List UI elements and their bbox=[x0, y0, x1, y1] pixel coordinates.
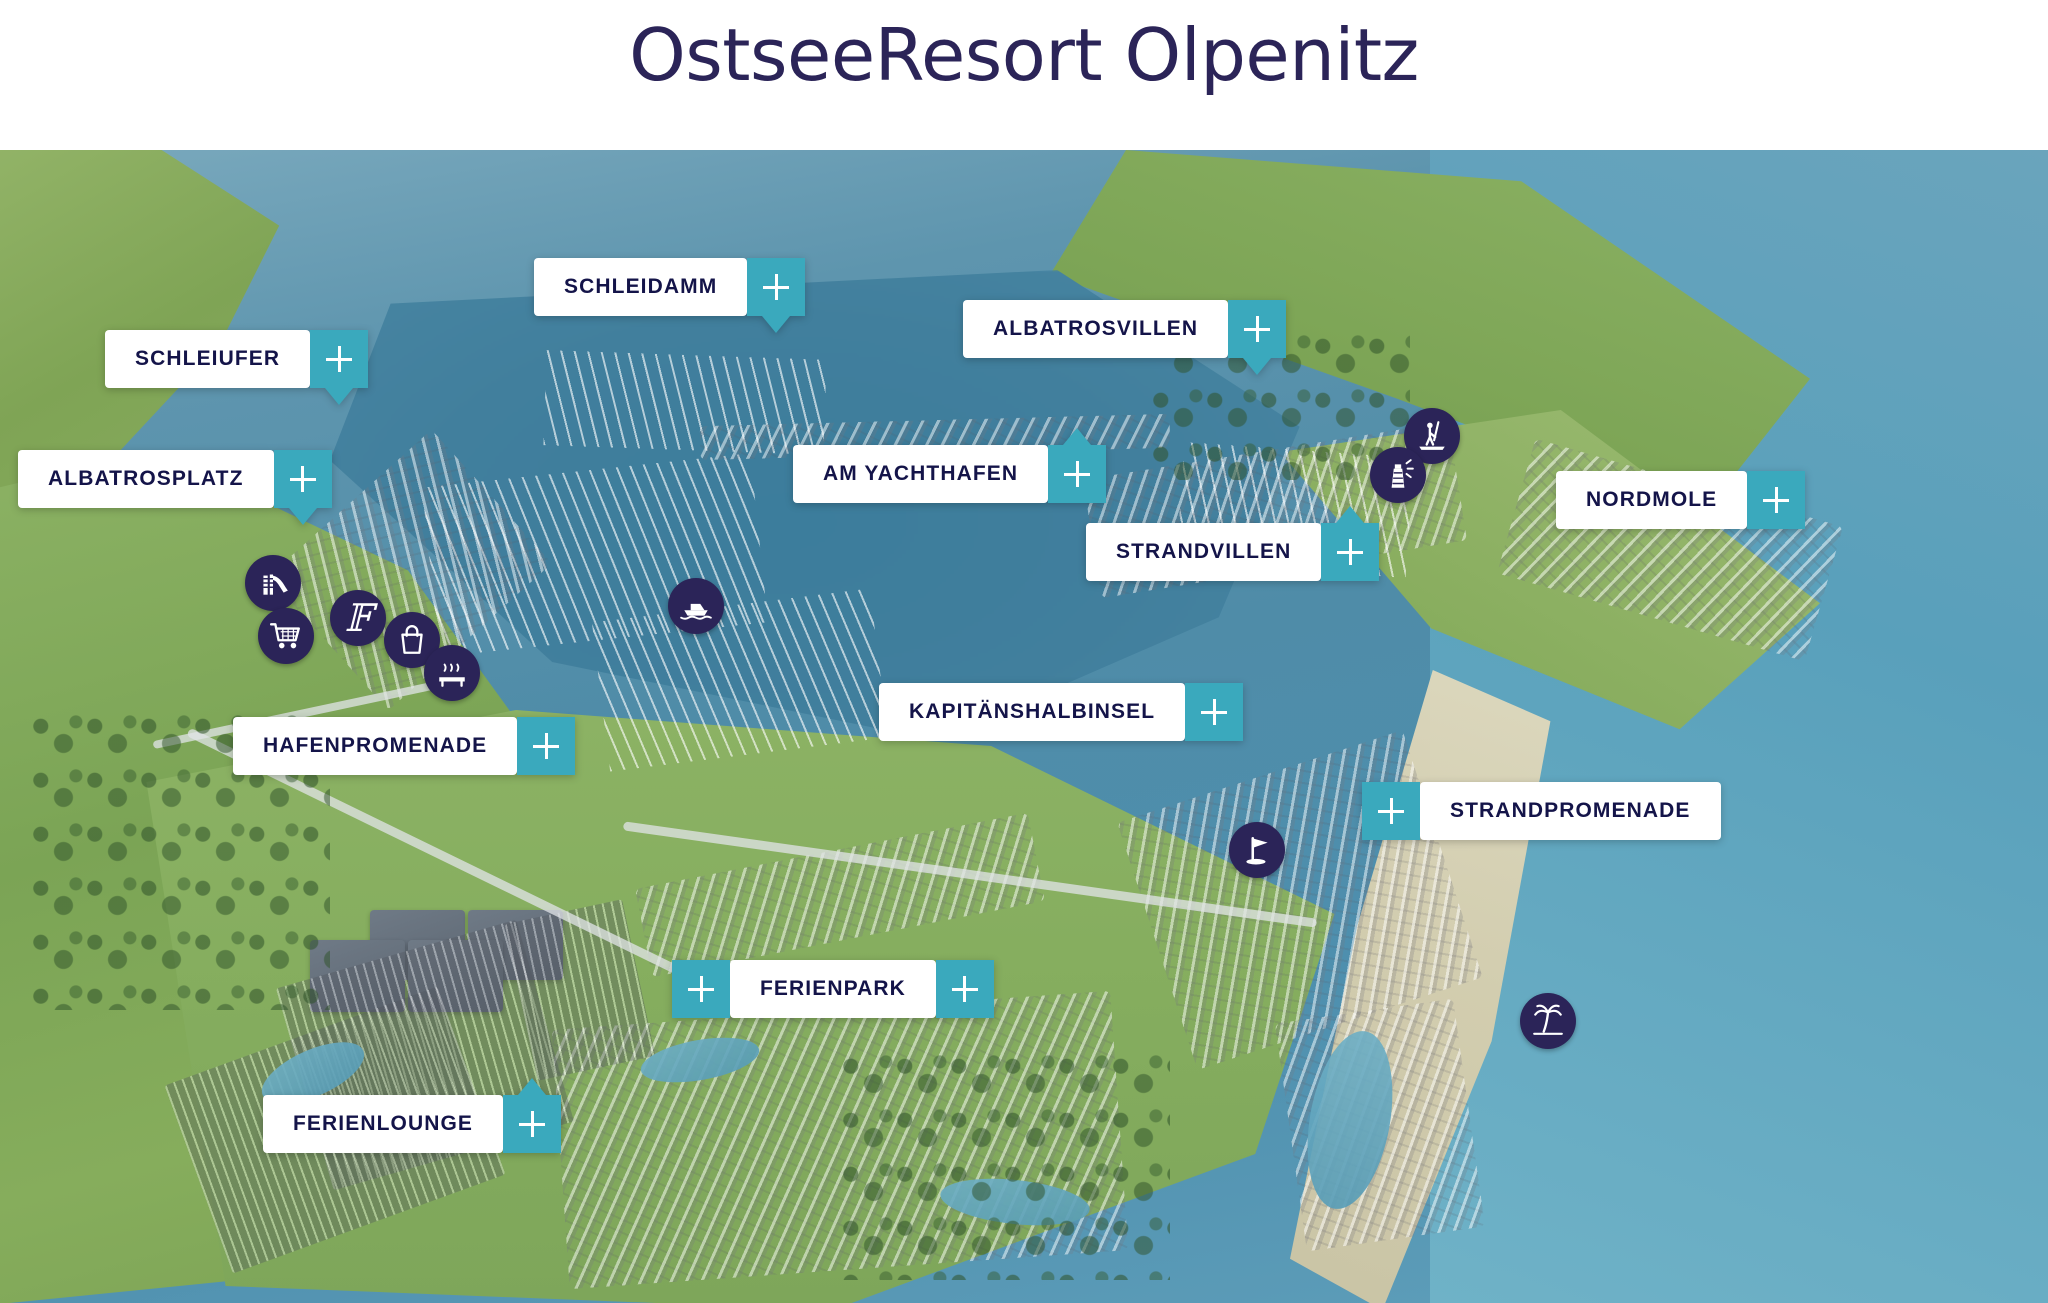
hotspot-label: NORDMOLE bbox=[1556, 471, 1747, 529]
hotspot-kapitaenshalbinsel[interactable]: KAPITÄNSHALBINSEL bbox=[879, 683, 1243, 741]
shopping-cart-icon[interactable] bbox=[258, 608, 314, 664]
page-title: OstseeResort Olpenitz bbox=[0, 10, 2048, 100]
plus-icon[interactable] bbox=[1185, 683, 1243, 741]
hotspot-strandvillen[interactable]: STRANDVILLEN bbox=[1086, 523, 1379, 581]
lighthouse-icon[interactable] bbox=[1370, 447, 1426, 503]
plus-icon[interactable] bbox=[1228, 300, 1286, 358]
hotspot-label: STRANDPROMENADE bbox=[1420, 782, 1721, 840]
hotspot-ferienlounge[interactable]: FERIENLOUNGE bbox=[263, 1095, 561, 1153]
hotspot-label: ALBATROSPLATZ bbox=[18, 450, 274, 508]
hotspot-label: ALBATROSVILLEN bbox=[963, 300, 1228, 358]
hotspot-label: STRANDVILLEN bbox=[1086, 523, 1321, 581]
plus-icon[interactable] bbox=[274, 450, 332, 508]
palm-beach-icon[interactable] bbox=[1520, 993, 1576, 1049]
hotspot-am-yachthafen[interactable]: AM YACHTHAFEN bbox=[793, 445, 1106, 503]
plus-icon-right[interactable] bbox=[936, 960, 994, 1018]
resort-map-canvas[interactable]: SCHLEIDAMM SCHLEIUFER ALBATROSVILLEN ALB… bbox=[0, 150, 2048, 1303]
plus-icon[interactable] bbox=[517, 717, 575, 775]
f-script-logo-icon[interactable]: 𝔽 bbox=[330, 590, 386, 646]
plus-icon-left[interactable] bbox=[672, 960, 730, 1018]
hotspot-hafenpromenade[interactable]: HAFENPROMENADE bbox=[233, 717, 575, 775]
hotspot-albatrosplatz[interactable]: ALBATROSPLATZ bbox=[18, 450, 332, 508]
sauna-bench-icon[interactable] bbox=[424, 645, 480, 701]
plus-icon[interactable] bbox=[747, 258, 805, 316]
hotspot-label: AM YACHTHAFEN bbox=[793, 445, 1048, 503]
hotspot-label: FERIENPARK bbox=[730, 960, 936, 1018]
motorboat-icon[interactable] bbox=[668, 578, 724, 634]
plus-icon[interactable] bbox=[310, 330, 368, 388]
hotspot-albatrosvillen[interactable]: ALBATROSVILLEN bbox=[963, 300, 1286, 358]
plus-icon[interactable] bbox=[1321, 523, 1379, 581]
resort-map-page: OstseeResort Olpenitz bbox=[0, 0, 2048, 1303]
hotspot-strandpromenade[interactable]: STRANDPROMENADE bbox=[1362, 782, 1721, 840]
hotspot-label: SCHLEIUFER bbox=[105, 330, 310, 388]
hotspot-schleiufer[interactable]: SCHLEIUFER bbox=[105, 330, 368, 388]
plus-icon[interactable] bbox=[503, 1095, 561, 1153]
plus-icon[interactable] bbox=[1362, 782, 1420, 840]
golf-flag-icon[interactable] bbox=[1229, 822, 1285, 878]
hotspot-label: FERIENLOUNGE bbox=[263, 1095, 503, 1153]
hotspot-ferienpark[interactable]: FERIENPARK bbox=[672, 960, 994, 1018]
hotspot-label: HAFENPROMENADE bbox=[233, 717, 517, 775]
water-slide-icon[interactable] bbox=[245, 555, 301, 611]
hotspot-nordmole[interactable]: NORDMOLE bbox=[1556, 471, 1805, 529]
hotspot-label: SCHLEIDAMM bbox=[534, 258, 747, 316]
plus-icon[interactable] bbox=[1747, 471, 1805, 529]
hotspot-schleidamm[interactable]: SCHLEIDAMM bbox=[534, 258, 805, 316]
f-letter: 𝔽 bbox=[345, 599, 372, 637]
hotspot-label: KAPITÄNSHALBINSEL bbox=[879, 683, 1185, 741]
plus-icon[interactable] bbox=[1048, 445, 1106, 503]
